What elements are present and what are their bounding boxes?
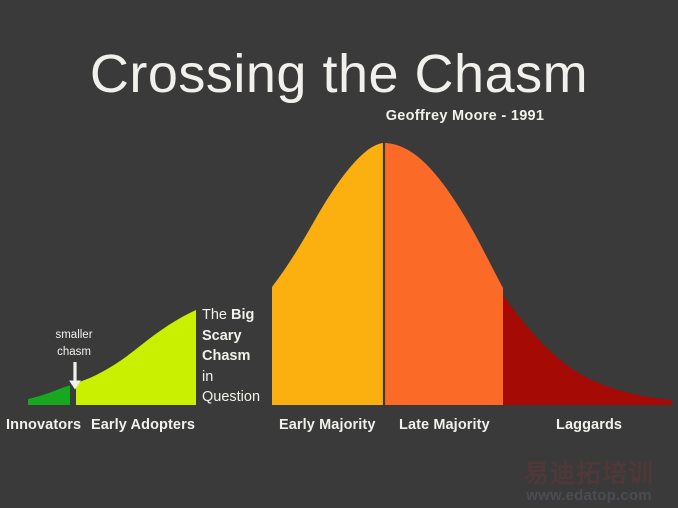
crossing-the-chasm-slide: Crossing the Chasm Geoffrey Moore - 1991… <box>0 0 678 508</box>
page-title: Crossing the Chasm <box>0 46 678 103</box>
category-label-innovators: Innovators <box>6 417 81 433</box>
big-chasm-the: The <box>202 307 231 323</box>
category-label-early-majority: Early Majority <box>279 417 376 433</box>
curve-segment-laggards <box>503 295 672 405</box>
big-chasm-chasm: Chasm <box>202 346 272 367</box>
watermark-url-text: www.edatop.com <box>506 488 672 503</box>
big-scary-chasm-annotation: The Big Scary Chasm in Question <box>202 305 272 408</box>
category-label-early-adopters: Early Adopters <box>91 417 195 433</box>
page-subtitle: Geoffrey Moore - 1991 <box>0 108 678 124</box>
big-chasm-question: Question <box>202 387 272 408</box>
big-chasm-scary: Scary <box>202 326 272 347</box>
big-chasm-line-1: The Big <box>202 305 272 326</box>
curve-segment-innovators <box>28 386 70 406</box>
curve-segment-late-majority <box>385 143 503 405</box>
big-chasm-in: in <box>202 367 272 388</box>
arrow-down-icon <box>68 362 82 390</box>
smaller-chasm-line-2: chasm <box>28 344 120 361</box>
smaller-chasm-line-1: smaller <box>28 327 120 344</box>
smaller-chasm-annotation: smaller chasm <box>28 327 120 360</box>
watermark-chinese-text: 易迪拓培训 <box>506 461 672 486</box>
category-label-laggards: Laggards <box>556 417 622 433</box>
big-chasm-big: Big <box>231 307 254 323</box>
curve-segment-early-majority <box>272 143 383 405</box>
watermark: 易迪拓培训 www.edatop.com <box>506 461 672 503</box>
category-label-late-majority: Late Majority <box>399 417 490 433</box>
